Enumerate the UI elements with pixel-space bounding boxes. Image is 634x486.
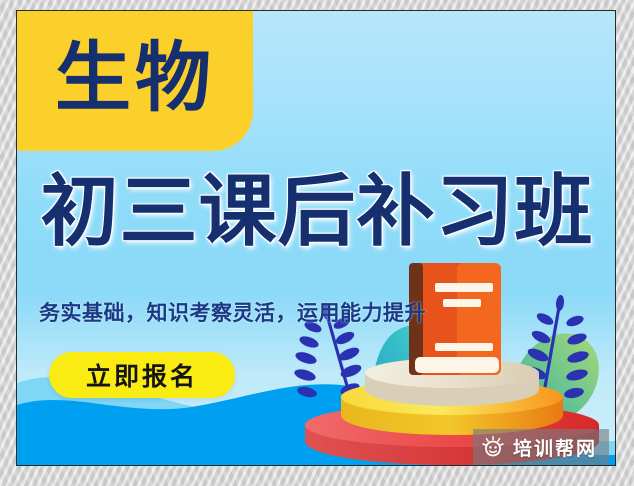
- promotional-banner: 生物 初三课后补习班 务实基础，知识考察灵活，运用能力提升 立即报名: [16, 10, 616, 466]
- enroll-now-button[interactable]: 立即报名: [49, 352, 235, 398]
- subject-badge: 生物: [17, 11, 253, 151]
- page-background: 生物 初三课后补习班 务实基础，知识考察灵活，运用能力提升 立即报名: [0, 0, 634, 486]
- book-label-line-3: [435, 343, 493, 351]
- book-label-line-1: [435, 283, 493, 292]
- watermark: 培训帮网: [473, 429, 609, 465]
- sun-face-icon: [481, 435, 505, 459]
- subtitle-text: 务实基础，知识考察灵活，运用能力提升: [39, 297, 426, 327]
- page-title: 初三课后补习班: [25, 173, 609, 251]
- enroll-now-label: 立即报名: [86, 357, 198, 393]
- subject-badge-label: 生物: [55, 40, 215, 122]
- book-label-line-2: [443, 299, 481, 307]
- book-pages: [415, 357, 499, 373]
- watermark-label: 培训帮网: [513, 434, 597, 461]
